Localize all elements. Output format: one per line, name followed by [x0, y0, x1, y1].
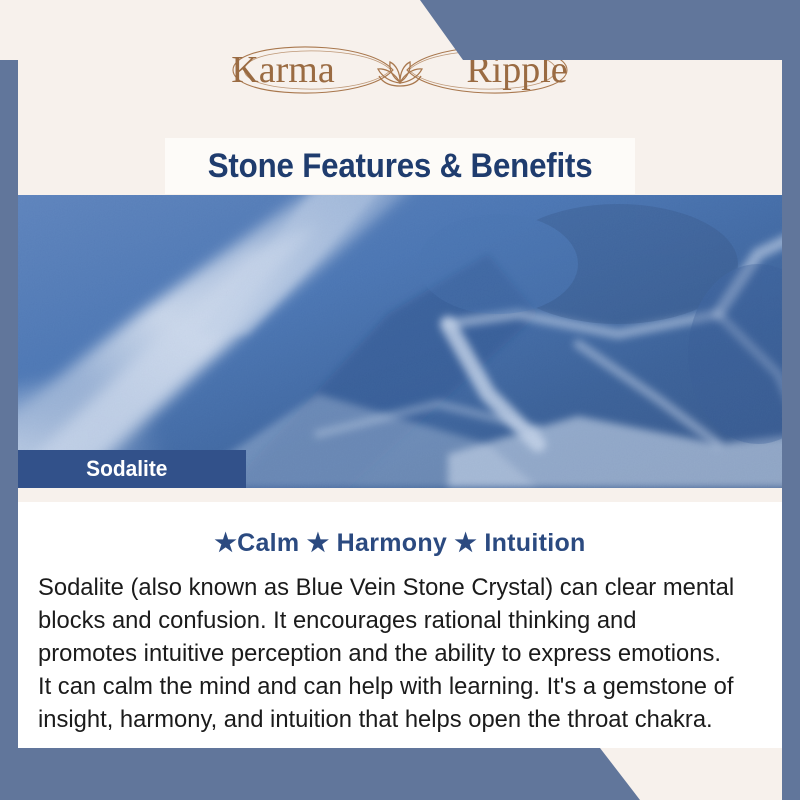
content-top-strip	[18, 488, 782, 502]
frame-right-band	[782, 0, 800, 800]
lotus-icon	[378, 62, 422, 86]
keyword-line: ★Calm ★ Harmony ★ Intuition	[18, 528, 782, 558]
page-title: Stone Features & Benefits	[208, 147, 593, 186]
stone-photo	[18, 194, 800, 488]
stone-name-bar: Sodalite	[18, 450, 246, 488]
title-banner: Stone Features & Benefits	[165, 138, 635, 194]
stone-name-label: Sodalite	[86, 456, 167, 482]
frame-left-notch	[0, 0, 18, 60]
frame-left-band	[0, 0, 18, 800]
infographic-card: Karma Ripple	[0, 0, 800, 800]
brand-word-left: Karma	[231, 49, 335, 91]
stone-description: Sodalite (also known as Blue Vein Stone …	[38, 571, 738, 736]
frame-bottom-left-band	[0, 748, 800, 800]
content-area: ★Calm ★ Harmony ★ Intuition Sodalite (al…	[18, 488, 782, 748]
stone-photo-svg	[18, 194, 800, 488]
